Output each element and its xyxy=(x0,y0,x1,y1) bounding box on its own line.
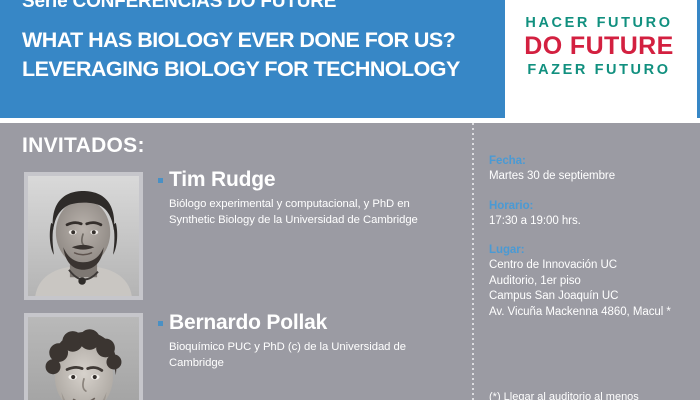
conference-poster: Serie CONFERENCIAS DO FUTURE WHAT HAS BI… xyxy=(0,0,700,400)
info-block-fecha: Fecha: Martes 30 de septiembre xyxy=(489,153,694,185)
bullet-square-icon xyxy=(158,321,163,326)
portrait-tim-rudge-svg xyxy=(28,176,139,296)
info-label-lugar: Lugar: xyxy=(489,242,694,258)
info-block-lugar: Lugar: Centro de Innovación UC Auditorio… xyxy=(489,242,694,320)
portrait-tim-rudge xyxy=(28,176,139,296)
logo-text-hacer-futuro: HACER FUTURO xyxy=(513,13,685,33)
info-block-horario: Horario: 17:30 a 19:00 hrs. xyxy=(489,198,694,230)
info-value-fecha: Martes 30 de septiembre xyxy=(489,169,694,185)
portrait-bernardo-pollak-svg xyxy=(28,317,139,400)
speaker-name-row-1: Tim Rudge xyxy=(158,168,458,192)
headline-line-2: LEVERAGING BIOLOGY FOR TECHNOLOGY xyxy=(22,55,492,84)
photo-frame-speaker-2 xyxy=(24,313,143,400)
body-area: INVITADOS: xyxy=(0,123,700,400)
info-footnote: (*) Llegar al auditorio al menos xyxy=(489,390,694,400)
info-panel: Fecha: Martes 30 de septiembre Horario: … xyxy=(489,153,694,333)
portrait-bernardo-pollak xyxy=(28,317,139,400)
logo-panel: HACER FUTURO DO FUTURE FAZER FUTURO xyxy=(513,0,700,118)
speaker-name-row-2: Bernardo Pollak xyxy=(158,311,458,335)
info-label-horario: Horario: xyxy=(489,198,694,214)
header-band: Serie CONFERENCIAS DO FUTURE WHAT HAS BI… xyxy=(0,0,505,118)
info-value-horario: 17:30 a 19:00 hrs. xyxy=(489,214,694,230)
headline-line-1: WHAT HAS BIOLOGY EVER DONE FOR US? xyxy=(22,26,492,55)
logo-text-do-future: DO FUTURE xyxy=(513,33,685,60)
speaker-name-2: Bernardo Pollak xyxy=(169,311,327,335)
photo-frame-speaker-1 xyxy=(24,172,143,300)
logo-text-fazer-futuro: FAZER FUTURO xyxy=(513,60,685,80)
series-line: Serie CONFERENCIAS DO FUTURE xyxy=(22,0,336,13)
speaker-block-1: Tim Rudge Biólogo experimental y computa… xyxy=(158,168,458,228)
speaker-name-1: Tim Rudge xyxy=(169,168,275,192)
speaker-description-2: Bioquímico PUC y PhD (c) de la Universid… xyxy=(169,340,458,371)
vertical-dotted-divider xyxy=(472,123,474,400)
section-title-invitados: INVITADOS: xyxy=(22,134,145,158)
logo-do-future: HACER FUTURO DO FUTURE FAZER FUTURO xyxy=(513,13,685,80)
headline: WHAT HAS BIOLOGY EVER DONE FOR US? LEVER… xyxy=(22,26,492,84)
speaker-block-2: Bernardo Pollak Bioquímico PUC y PhD (c)… xyxy=(158,311,458,371)
info-label-fecha: Fecha: xyxy=(489,153,694,169)
speaker-description-1: Biólogo experimental y computacional, y … xyxy=(169,197,458,228)
bullet-square-icon xyxy=(158,178,163,183)
info-value-lugar: Centro de Innovación UC Auditorio, 1er p… xyxy=(489,258,694,320)
